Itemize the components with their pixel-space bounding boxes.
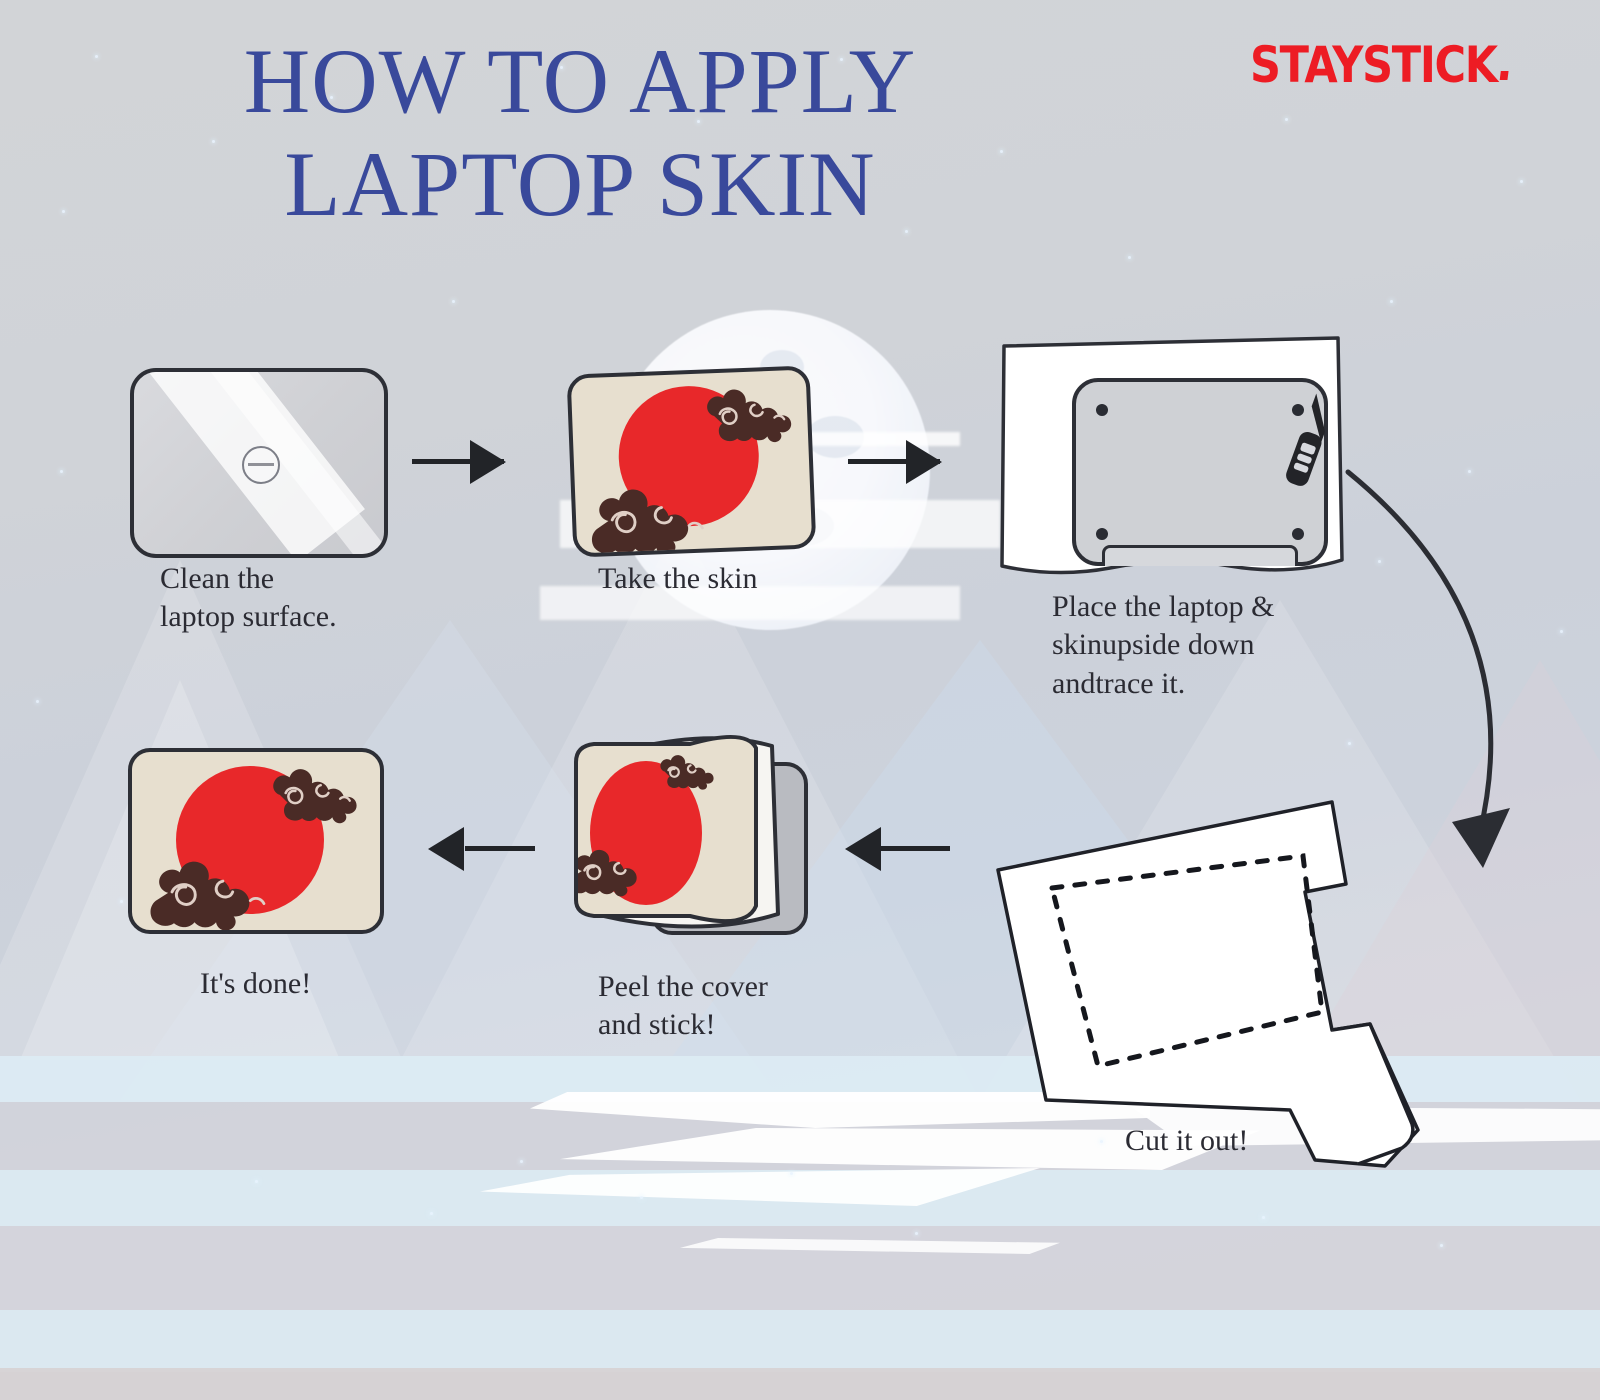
caption-take-skin: Take the skin	[598, 560, 898, 598]
brand-logo: STAYSTICK	[1250, 36, 1508, 94]
star	[640, 1196, 643, 1199]
star	[1560, 630, 1563, 633]
laptop-foot	[1096, 404, 1108, 416]
star	[1440, 1244, 1443, 1247]
water-reflection-3	[480, 1168, 1040, 1206]
star	[430, 1212, 433, 1215]
finished-skin	[128, 748, 384, 934]
star	[452, 300, 455, 303]
skin-sheet	[567, 365, 817, 557]
star	[1285, 118, 1288, 121]
step-take-skin	[567, 365, 819, 559]
step-place-and-trace	[990, 330, 1350, 590]
laptop-foot	[1292, 528, 1304, 540]
step-clean	[130, 368, 390, 558]
brand-logo-mark	[1500, 71, 1509, 80]
water-band-6	[0, 1368, 1600, 1400]
water-band-4	[0, 1226, 1600, 1334]
star	[1128, 256, 1131, 259]
brand-logo-text: STAYSTICK	[1250, 36, 1497, 94]
water-band-5	[0, 1310, 1600, 1372]
star	[1520, 180, 1523, 183]
caption-cut-it-out: Cut it out!	[1125, 1122, 1425, 1160]
caption-peel-and-stick: Peel the cover and stick!	[598, 968, 918, 1045]
page-title: HOW TO APPLY LAPTOP SKIN	[0, 30, 1160, 236]
star	[520, 1160, 523, 1163]
star	[120, 900, 123, 903]
step-cut-it-out	[960, 780, 1420, 1180]
star	[36, 700, 39, 703]
water-reflection-4	[680, 1238, 1060, 1254]
star	[1262, 1216, 1265, 1219]
star	[790, 1172, 793, 1175]
star	[255, 1180, 258, 1183]
cloud-motif-top-right	[250, 758, 368, 826]
lid-logo-line	[248, 463, 274, 466]
cloud-motif-top-right	[683, 376, 804, 448]
cut-sheet-with-dashed-outline	[960, 780, 1420, 1180]
cloud-motif-bottom-left	[142, 844, 294, 932]
star	[915, 1232, 918, 1235]
cloud-motif-bottom-left	[580, 469, 733, 558]
step-done	[128, 748, 383, 934]
star	[1390, 300, 1393, 303]
laptop-lid	[130, 368, 388, 558]
laptop-foot	[1096, 528, 1108, 540]
caption-clean: Clean the laptop surface.	[160, 560, 460, 637]
step-peel-and-stick	[560, 730, 820, 930]
infographic-page: HOW TO APPLY LAPTOP SKIN STAYSTICK Clean…	[0, 0, 1600, 1400]
laptop-brand-logo-icon	[242, 446, 280, 484]
laptop-hinge-notch	[1102, 545, 1298, 566]
caption-done: It's done!	[200, 965, 500, 1003]
peeling-skin	[560, 730, 820, 935]
star	[60, 470, 63, 473]
